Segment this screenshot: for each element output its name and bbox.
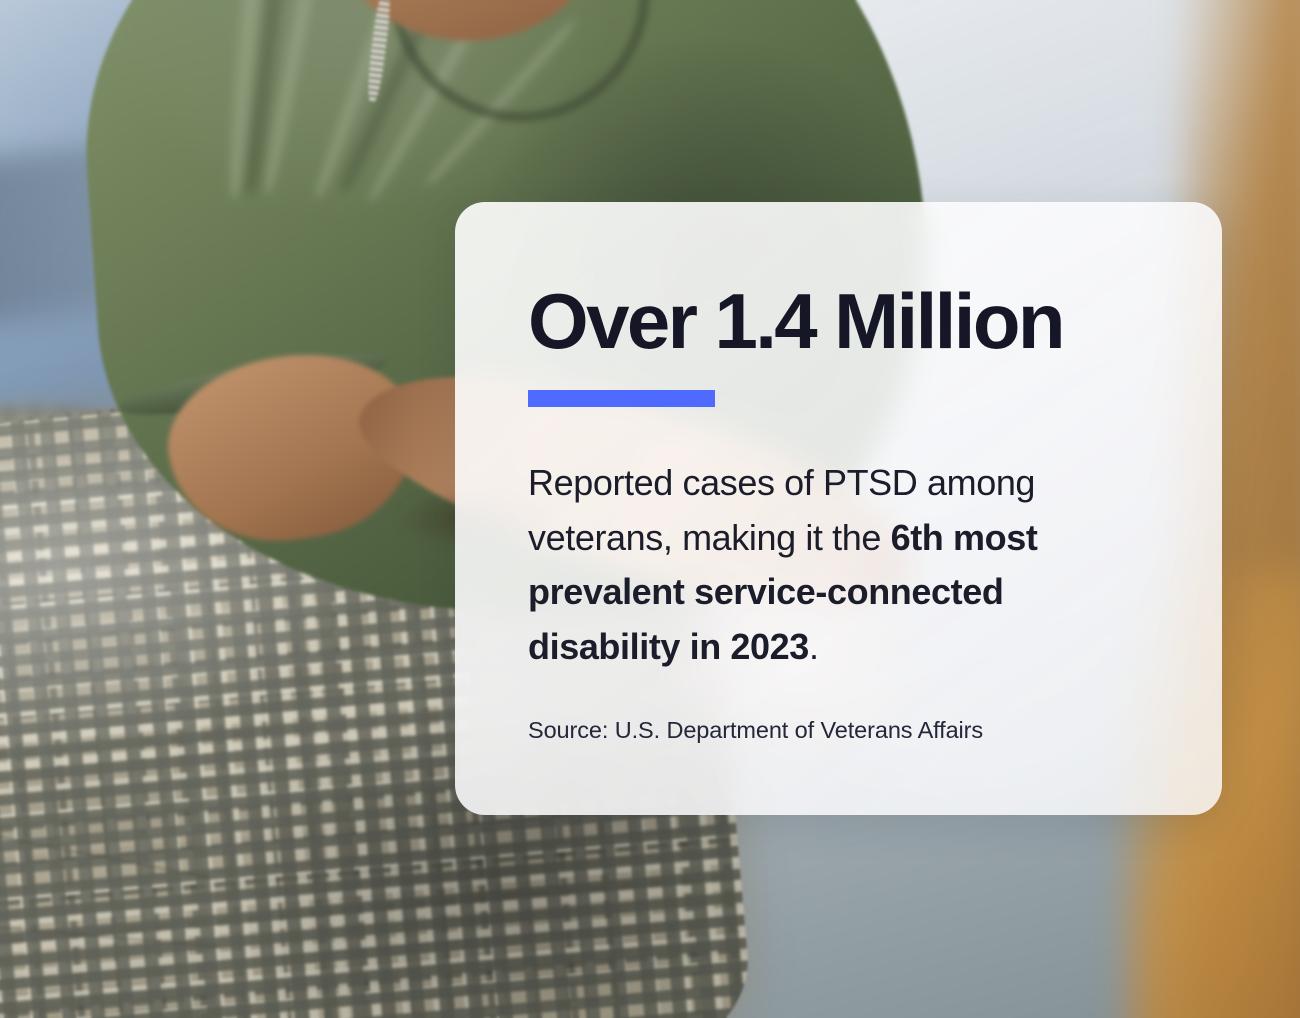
statistic-description: Reported cases of PTSD among veterans, m… xyxy=(528,456,1153,675)
card-content: Over 1.4 Million Reported cases of PTSD … xyxy=(528,282,1153,744)
infographic-canvas: Over 1.4 Million Reported cases of PTSD … xyxy=(0,0,1300,1018)
trouser-pocket-flap xyxy=(0,921,219,947)
source-attribution: Source: U.S. Department of Veterans Affa… xyxy=(528,717,1153,744)
accent-divider-bar xyxy=(528,390,715,407)
statistic-card: Over 1.4 Million Reported cases of PTSD … xyxy=(455,202,1222,815)
statistic-headline: Over 1.4 Million xyxy=(528,282,1153,360)
trouser-seam xyxy=(0,812,208,878)
description-trailing: . xyxy=(809,626,819,667)
